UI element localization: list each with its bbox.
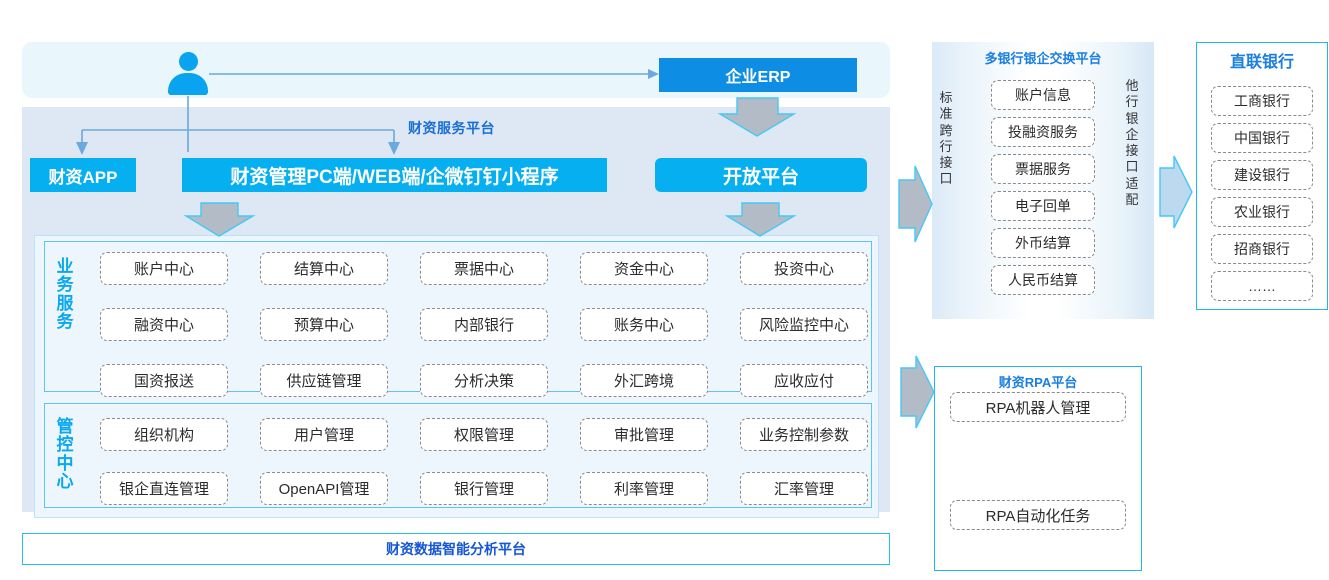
business-cell-3[interactable]: 资金中心 (580, 252, 708, 285)
business-cell-14[interactable]: 应收应付 (740, 364, 868, 397)
client-box-open-platform[interactable]: 开放平台 (655, 158, 867, 192)
management-center-label: 管控中心 (52, 418, 78, 491)
client-box-pc[interactable]: 财资管理PC端/WEB端/企微钉钉小程序 (182, 158, 607, 192)
business-cell-2[interactable]: 票据中心 (420, 252, 548, 285)
other-bank-adapter-label: 他行银企接口适配 (1122, 78, 1142, 208)
management-cell-1[interactable]: 用户管理 (260, 418, 388, 451)
management-cell-2[interactable]: 权限管理 (420, 418, 548, 451)
business-cell-12[interactable]: 分析决策 (420, 364, 548, 397)
business-cell-13[interactable]: 外汇跨境 (580, 364, 708, 397)
bank-exchange-items: 账户信息投融资服务票据服务电子回单外币结算人民币结算 (991, 80, 1095, 295)
management-cell-9[interactable]: 汇率管理 (740, 472, 868, 505)
enterprise-erp-box[interactable]: 企业ERP (659, 58, 857, 92)
management-cell-3[interactable]: 审批管理 (580, 418, 708, 451)
data-analysis-platform-bar[interactable]: 财资数据智能分析平台 (22, 533, 890, 565)
bank-exchange-item-3[interactable]: 电子回单 (991, 191, 1095, 221)
direct-banks-title: 直联银行 (1196, 48, 1328, 72)
arrow-bank-exchange-to-direct-banks (1160, 156, 1192, 228)
arrow-platform-to-bank-exchange (899, 166, 932, 242)
management-cell-5[interactable]: 银企直连管理 (100, 472, 228, 505)
business-services-grid: 账户中心结算中心票据中心资金中心投资中心融资中心预算中心内部银行账务中心风险监控… (100, 252, 868, 397)
bank-exchange-item-5[interactable]: 人民币结算 (991, 265, 1095, 295)
bank-exchange-item-4[interactable]: 外币结算 (991, 228, 1095, 258)
management-center-grid: 组织机构用户管理权限管理审批管理业务控制参数银企直连管理OpenAPI管理银行管… (100, 418, 868, 505)
direct-bank-item-3[interactable]: 农业银行 (1211, 197, 1313, 227)
direct-bank-item-5[interactable]: …… (1211, 271, 1313, 301)
bank-exchange-title: 多银行银企交换平台 (932, 48, 1154, 67)
direct-bank-item-4[interactable]: 招商银行 (1211, 234, 1313, 264)
arrow-platform-to-rpa (901, 356, 934, 428)
management-cell-0[interactable]: 组织机构 (100, 418, 228, 451)
business-cell-0[interactable]: 账户中心 (100, 252, 228, 285)
business-cell-4[interactable]: 投资中心 (740, 252, 868, 285)
rpa-cell-automation-task[interactable]: RPA自动化任务 (950, 500, 1126, 530)
business-services-label: 业务服务 (52, 258, 78, 331)
business-cell-6[interactable]: 预算中心 (260, 308, 388, 341)
business-cell-5[interactable]: 融资中心 (100, 308, 228, 341)
business-cell-10[interactable]: 国资报送 (100, 364, 228, 397)
management-cell-8[interactable]: 利率管理 (580, 472, 708, 505)
business-cell-1[interactable]: 结算中心 (260, 252, 388, 285)
direct-bank-item-1[interactable]: 中国银行 (1211, 123, 1313, 153)
business-cell-9[interactable]: 风险监控中心 (740, 308, 868, 341)
person-icon (167, 52, 209, 96)
standard-interface-label: 标准跨行接口 (936, 90, 956, 188)
bank-exchange-item-0[interactable]: 账户信息 (991, 80, 1095, 110)
client-box-app[interactable]: 财资APP (30, 158, 136, 192)
management-cell-4[interactable]: 业务控制参数 (740, 418, 868, 451)
rpa-platform-title: 财资RPA平台 (934, 372, 1142, 391)
direct-banks-items: 工商银行中国银行建设银行农业银行招商银行…… (1211, 86, 1313, 301)
management-cell-6[interactable]: OpenAPI管理 (260, 472, 388, 505)
management-cell-7[interactable]: 银行管理 (420, 472, 548, 505)
bank-exchange-item-2[interactable]: 票据服务 (991, 154, 1095, 184)
business-cell-11[interactable]: 供应链管理 (260, 364, 388, 397)
business-cell-8[interactable]: 账务中心 (580, 308, 708, 341)
business-cell-7[interactable]: 内部银行 (420, 308, 548, 341)
bank-exchange-item-1[interactable]: 投融资服务 (991, 117, 1095, 147)
direct-bank-item-0[interactable]: 工商银行 (1211, 86, 1313, 116)
platform-title: 财资服务平台 (408, 118, 495, 138)
direct-bank-item-2[interactable]: 建设银行 (1211, 160, 1313, 190)
rpa-cell-robot-management[interactable]: RPA机器人管理 (950, 392, 1126, 422)
